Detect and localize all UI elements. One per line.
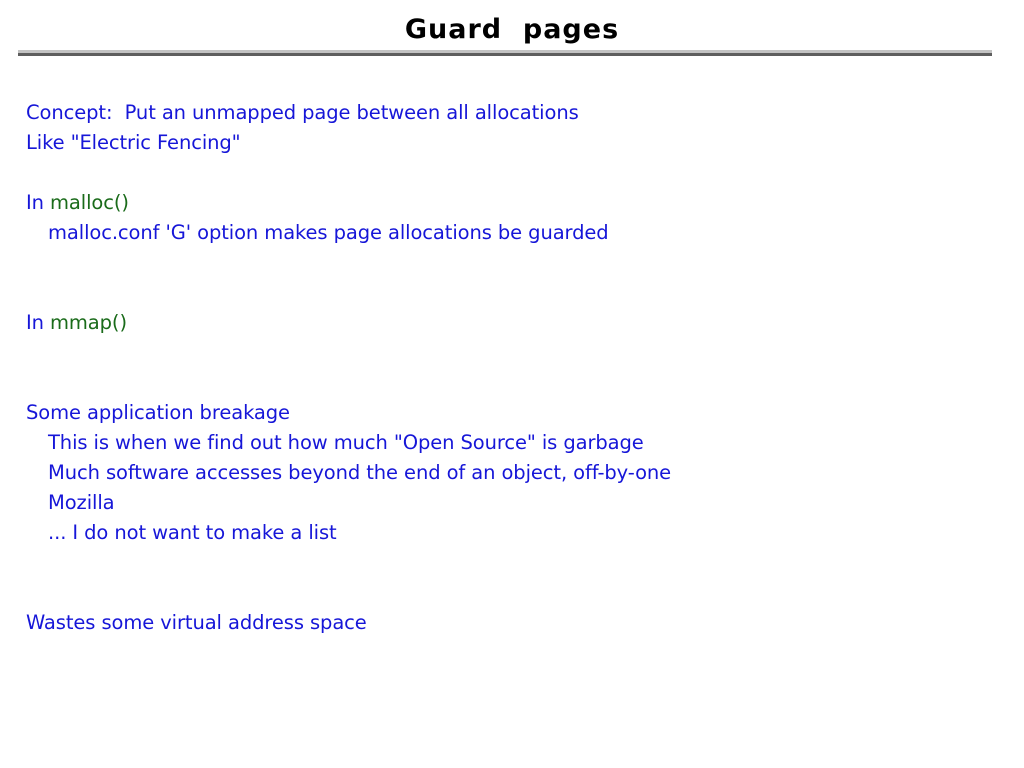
page-title: Guard pages: [0, 14, 1024, 46]
body-line-in-malloc-prefix: In: [26, 191, 50, 214]
title-divider: [18, 50, 992, 56]
body-line-concept: Concept: Put an unmapped page between al…: [26, 98, 986, 128]
body-line-in-malloc: In malloc(): [26, 188, 986, 218]
body-line-mozilla: Mozilla: [48, 488, 986, 518]
title-divider-shadow: [18, 53, 992, 56]
body-line-in-mmap-prefix: In: [26, 311, 50, 334]
spacer-line: [26, 278, 986, 308]
body-line-open-source: This is when we find out how much "Open …: [48, 428, 986, 458]
body-line-off-by-one: Much software accesses beyond the end of…: [48, 458, 986, 488]
spacer-line: [26, 368, 986, 398]
spacer-line: [26, 548, 986, 578]
spacer-line: [26, 338, 986, 368]
code-identifier-in-malloc: malloc(): [50, 191, 129, 214]
body-line-wastes-vas: Wastes some virtual address space: [26, 608, 986, 638]
spacer-line: [26, 248, 986, 278]
code-identifier-in-mmap: mmap(): [50, 311, 127, 334]
body-line-in-mmap: In mmap(): [26, 308, 986, 338]
body-line-malloc-conf: malloc.conf 'G' option makes page alloca…: [48, 218, 986, 248]
body-line-no-list: ... I do not want to make a list: [48, 518, 986, 548]
slide-canvas: Guard pages Concept: Put an unmapped pag…: [0, 0, 1024, 768]
body-line-app-breakage: Some application breakage: [26, 398, 986, 428]
spacer-line: [26, 578, 986, 608]
body-line-electric-fencing: Like "Electric Fencing": [26, 128, 986, 158]
slide-body: Concept: Put an unmapped page between al…: [26, 98, 986, 638]
spacer-line: [26, 158, 986, 188]
